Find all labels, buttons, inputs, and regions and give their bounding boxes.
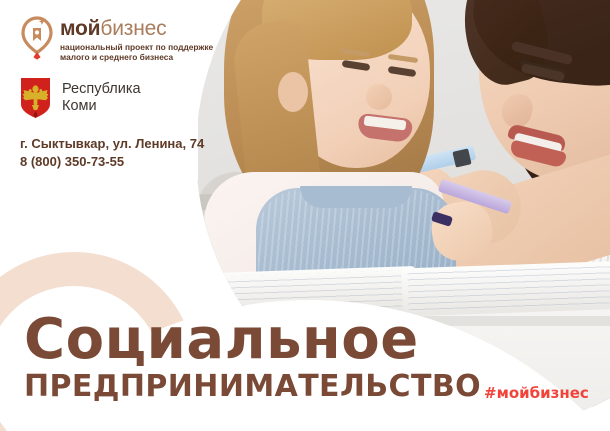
girl-dress-collar [300,186,412,208]
poster-canvas: мойбизнес национальный проект по поддерж… [0,0,610,431]
logo-lockup: мойбизнес национальный проект по поддерж… [20,16,213,171]
girl-nose [366,84,392,110]
contact-block: г. Сыктывкар, ул. Ленина, 74 8 (800) 350… [20,135,213,171]
my-business-wordmark: мойбизнес национальный проект по поддерж… [60,16,213,63]
headline-block: Социальное ПРЕДПРИНИМАТЕЛЬСТВО [24,312,481,404]
brand-name-bold: мой [60,17,100,40]
my-business-logo: мойбизнес национальный проект по поддерж… [20,16,213,63]
brand-subtitle-line1: национальный проект по поддержке [60,42,213,52]
address-text: г. Сыктывкар, ул. Ленина, 74 [20,135,213,153]
brand-name: мойбизнес [60,18,213,39]
brand-subtitle-line2: малого и среднего бизнеса [60,52,213,62]
hashtag: #мойбизнес [484,384,589,402]
region-name-line1: Республика [62,81,141,98]
komi-coat-of-arms-icon [20,77,51,119]
headline-line1: Социальное [24,312,481,368]
girl-ear [278,72,308,112]
location-pin-bookmark-icon [20,16,54,60]
headline-line2: ПРЕДПРИНИМАТЕЛЬСТВО [24,370,481,404]
notebook-center-lines [407,264,610,311]
brand-name-light: бизнес [100,17,166,40]
region-lockup: Республика Коми [20,77,213,119]
region-name: Республика Коми [62,81,141,114]
phone-text[interactable]: 8 (800) 350-73-55 [20,153,213,171]
region-name-line2: Коми [62,98,141,115]
